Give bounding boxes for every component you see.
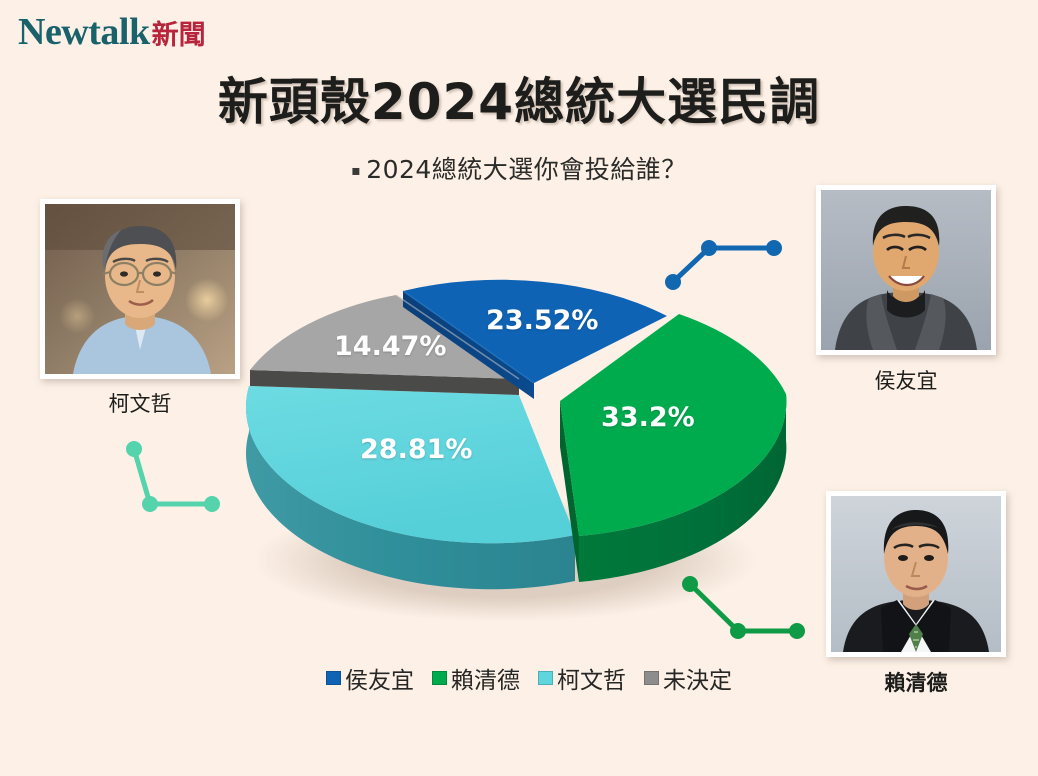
- legend-item-undecided[interactable]: 未決定: [644, 661, 732, 695]
- pie-label-undecided: 14.47%: [334, 331, 446, 362]
- legend-swatch-hou: [326, 671, 341, 685]
- photo-card-hou: [816, 185, 996, 355]
- pie-label-lai: 33.2%: [601, 402, 695, 433]
- photo-name-hou: 侯友宜: [816, 365, 996, 395]
- leader-line-lai: [682, 576, 805, 639]
- page-subtitle: ▪2024總統大選你會投給誰？: [0, 150, 1038, 186]
- photo-hou-image: [821, 190, 991, 350]
- photo-ko: [45, 204, 235, 374]
- photo-ko-image: [45, 204, 235, 374]
- logo-wordmark: Newtalk: [18, 10, 150, 54]
- pie-shadow: [253, 498, 757, 622]
- photo-card-lai: [826, 491, 1006, 657]
- leader-line-ko: [126, 441, 220, 512]
- pie-slice-lai-wall-left: [560, 401, 579, 582]
- pie-slice-ko-side: [246, 386, 575, 589]
- legend-swatch-undecided: [644, 671, 659, 685]
- subtitle-text: 2024總統大選你會投給誰？: [366, 155, 687, 184]
- legend-label-undecided: 未決定: [663, 661, 732, 695]
- pie-label-hou: 23.52%: [486, 305, 598, 336]
- legend-label-ko: 柯文哲: [557, 661, 626, 695]
- legend-item-hou[interactable]: 侯友宜: [326, 661, 414, 695]
- photo-lai-image: [831, 496, 1001, 652]
- legend-label-lai: 賴清德: [451, 661, 520, 695]
- leader-line-hou: [665, 240, 782, 290]
- newtalk-logo: Newtalk 新聞: [18, 10, 206, 54]
- infographic-canvas: Newtalk 新聞 新頭殼2024總統大選民調 ▪2024總統大選你會投給誰？: [0, 0, 1038, 776]
- photo-card-ko: [40, 199, 240, 379]
- pie-label-ko: 28.81%: [360, 434, 472, 465]
- photo-name-ko: 柯文哲: [40, 388, 240, 418]
- bullet-icon: ▪: [351, 163, 361, 179]
- photo-hou: [821, 190, 991, 350]
- photo-lai: [831, 496, 1001, 652]
- legend-item-lai[interactable]: 賴清德: [432, 661, 520, 695]
- legend-label-hou: 侯友宜: [345, 661, 414, 695]
- legend-item-ko[interactable]: 柯文哲: [538, 661, 626, 695]
- chart-legend: 侯友宜 賴清德 柯文哲 未決定: [0, 661, 1038, 695]
- legend-swatch-lai: [432, 671, 447, 685]
- pie-slice-undecided-side: [250, 370, 519, 395]
- legend-swatch-ko: [538, 671, 553, 685]
- logo-suffix: 新聞: [152, 13, 206, 52]
- page-title: 新頭殼2024總統大選民調: [0, 62, 1038, 134]
